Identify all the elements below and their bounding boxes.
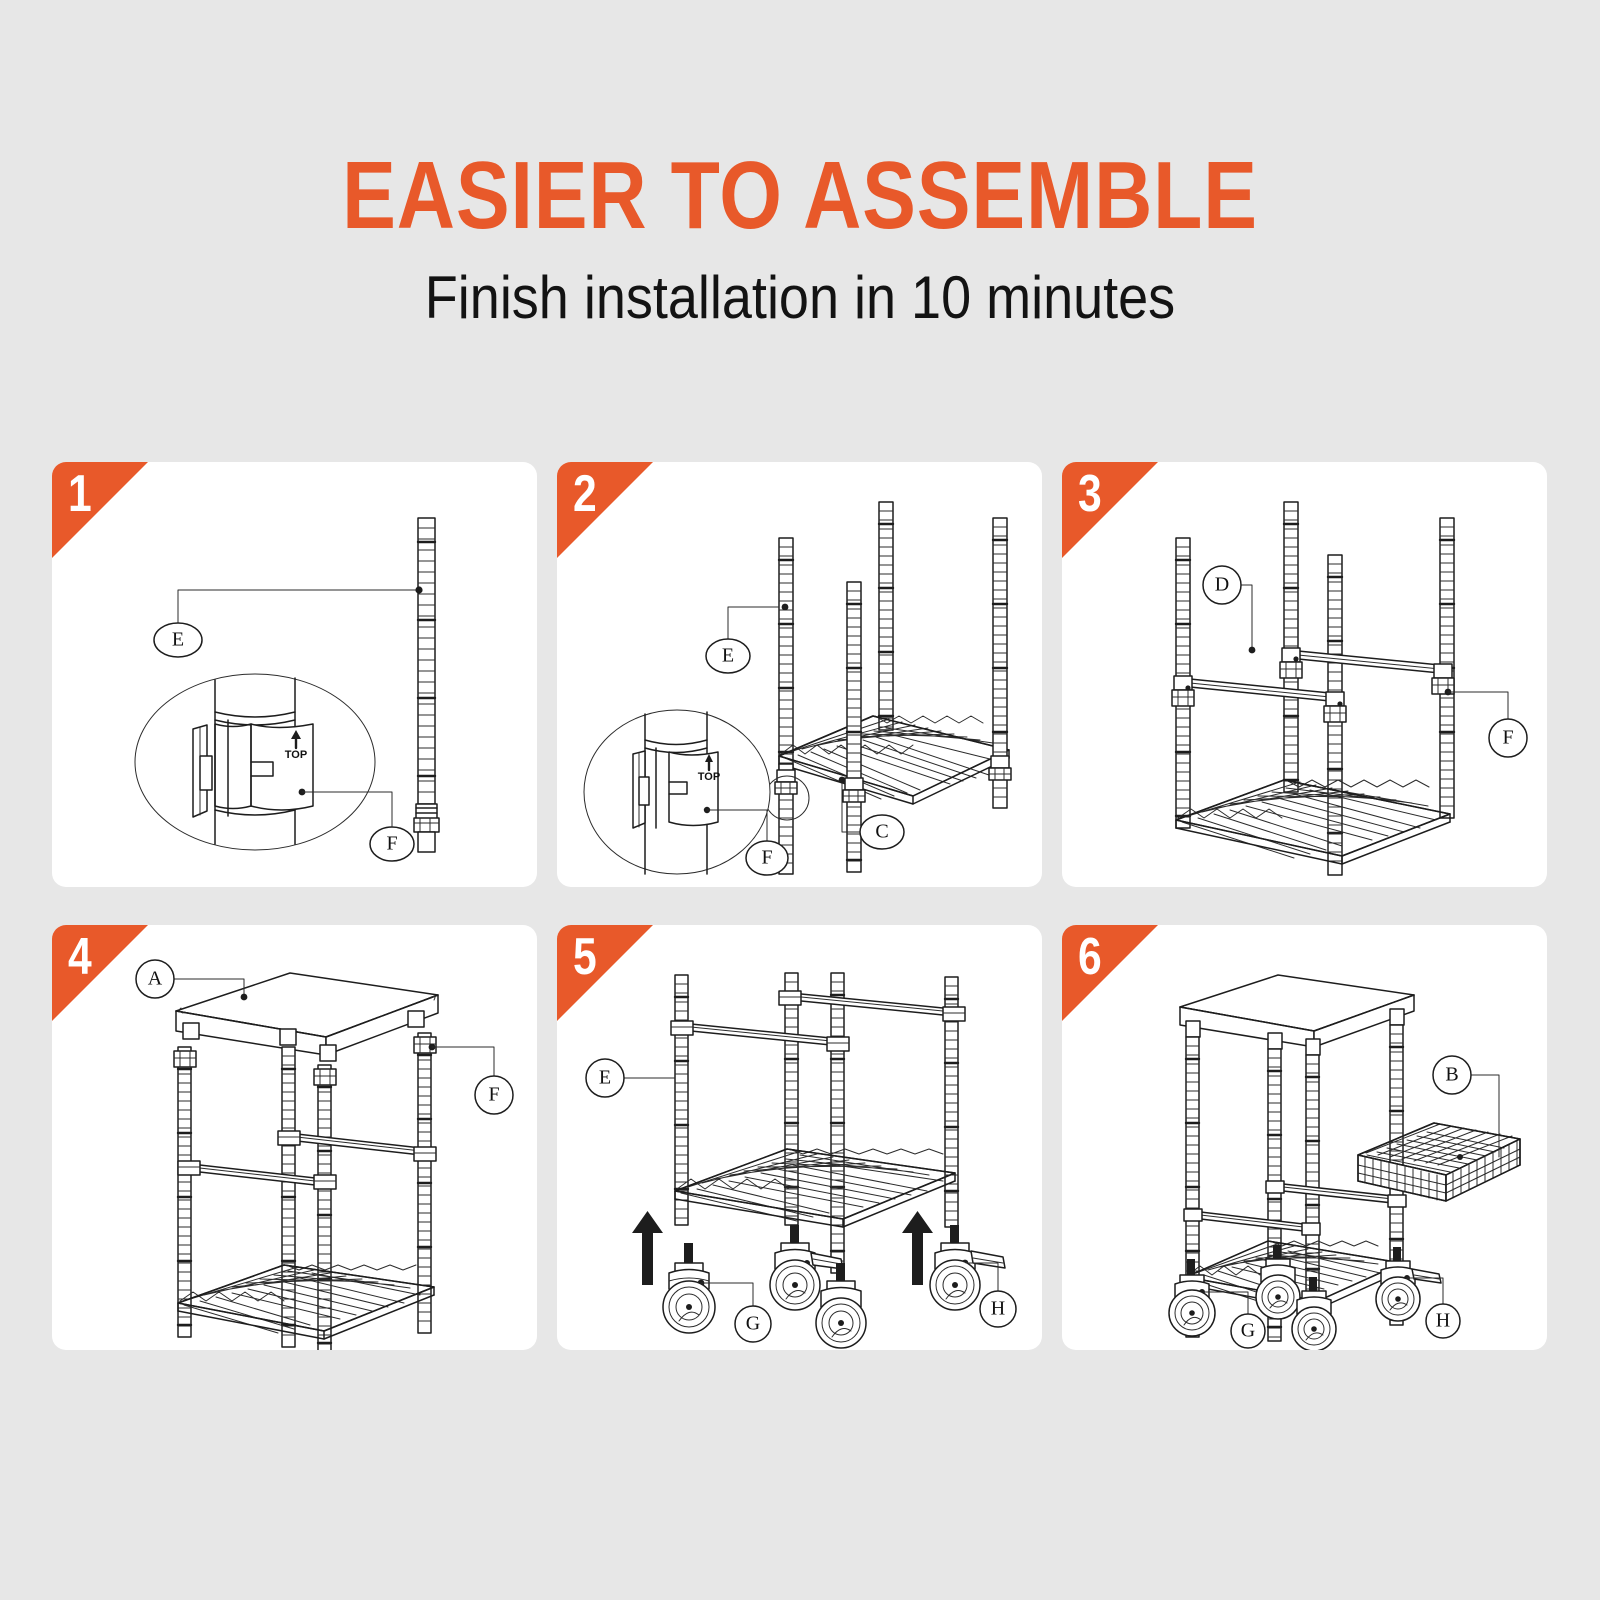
assembly-infographic: EASIER TO ASSEMBLE Finish installation i… xyxy=(0,0,1600,1600)
step-number-5: 5 xyxy=(573,931,597,983)
caster-part-g xyxy=(663,1243,715,1333)
callout-label-f: F xyxy=(488,1084,499,1106)
step-badge-5 xyxy=(557,925,653,1021)
insert-arrow-right xyxy=(902,1211,933,1285)
step-number-1: 1 xyxy=(68,468,92,520)
collar-bar-c xyxy=(1184,1209,1202,1221)
wire-shelf xyxy=(178,1265,434,1339)
collar-back-left xyxy=(1280,648,1302,678)
step-panel-6: 6 xyxy=(1062,925,1547,1350)
callout-label-a: A xyxy=(148,968,163,990)
step-panel-5: 5 xyxy=(557,925,1042,1350)
step-badge-4 xyxy=(52,925,148,1021)
collar-bl xyxy=(779,991,801,1005)
step-badge-3 xyxy=(1062,462,1158,558)
callout-label-f: F xyxy=(1502,727,1513,749)
collar-left-top xyxy=(174,1051,196,1067)
page-subtitle: Finish installation in 10 minutes xyxy=(80,244,1520,328)
callout-d: D xyxy=(1203,566,1255,653)
cross-bar-front xyxy=(1192,1211,1312,1232)
collar-mid-right xyxy=(414,1147,436,1161)
callout-label-g: G xyxy=(746,1313,760,1335)
callout-e: E xyxy=(154,586,423,657)
callout-label-g: G xyxy=(1241,1320,1255,1342)
page-title: EASIER TO ASSEMBLE xyxy=(128,0,1472,244)
post-center-back xyxy=(1284,502,1298,792)
post-center-front xyxy=(831,973,844,1273)
callout-label-f: F xyxy=(386,833,397,855)
step-panel-4: 4 xyxy=(52,925,537,1350)
collar-br xyxy=(943,1007,965,1021)
collar-mid-left xyxy=(178,1161,200,1175)
collar-front-left xyxy=(1172,676,1194,706)
callout-label-d: D xyxy=(1215,574,1229,596)
post-right xyxy=(989,518,1011,808)
post-part-e xyxy=(414,518,439,852)
callout-e: E xyxy=(586,1059,675,1097)
step-panel-1: 1 xyxy=(52,462,537,887)
collar-bar-a xyxy=(1266,1181,1284,1193)
callout-label-f: F xyxy=(761,847,772,869)
top-marker-label: TOP xyxy=(285,749,307,761)
callout-label-b: B xyxy=(1445,1064,1458,1086)
collar-fl xyxy=(671,1021,693,1035)
callout-label-h: H xyxy=(991,1298,1005,1320)
collar-bar-b xyxy=(1302,1223,1320,1235)
detail-magnifier: TOP xyxy=(584,710,770,874)
insert-arrow-left xyxy=(632,1211,663,1285)
callout-e: E xyxy=(706,604,788,673)
cross-bar-back xyxy=(1288,650,1450,674)
step-badge-1 xyxy=(52,462,148,558)
collar-right xyxy=(1432,664,1454,695)
cross-bar-front xyxy=(681,1023,841,1046)
step-number-2: 2 xyxy=(573,468,597,520)
collar-right-top xyxy=(414,1037,436,1053)
header: EASIER TO ASSEMBLE Finish installation i… xyxy=(0,0,1600,328)
callout-label-e: E xyxy=(599,1067,611,1089)
callout-label-e: E xyxy=(172,629,184,651)
step-badge-2 xyxy=(557,462,653,558)
collar-center-front-top xyxy=(314,1069,336,1085)
cross-bar-back xyxy=(791,993,953,1016)
step-panel-3: 3 xyxy=(1062,462,1547,887)
step-number-4: 4 xyxy=(68,931,92,983)
callout-label-c: C xyxy=(875,821,888,843)
step-badge-6 xyxy=(1062,925,1158,1021)
callout-f: F xyxy=(1448,692,1527,757)
wire-shelf-part-c xyxy=(779,716,1009,804)
steps-grid: 1 xyxy=(52,462,1548,1305)
wire-shelf xyxy=(675,1149,955,1227)
collar-mid-cfront xyxy=(314,1175,336,1189)
collar-front-right xyxy=(1324,692,1346,722)
callout-label-e: E xyxy=(722,645,734,667)
top-marker-label: TOP xyxy=(698,771,720,783)
collar-bar-d xyxy=(1388,1195,1406,1207)
step-panel-2: 2 xyxy=(557,462,1042,887)
collar-mid-cback xyxy=(278,1131,300,1145)
callout-label-h: H xyxy=(1436,1310,1450,1332)
wire-basket-part-b xyxy=(1358,1123,1520,1201)
step-number-3: 3 xyxy=(1078,468,1102,520)
cross-bar-front xyxy=(1180,678,1340,702)
collar-fr xyxy=(827,1037,849,1051)
cross-bar-front xyxy=(182,1163,324,1186)
post-left xyxy=(178,1047,191,1337)
table-top xyxy=(1180,975,1414,1055)
caster-center-front xyxy=(816,1263,866,1348)
table-top-part-a xyxy=(176,973,438,1061)
step-number-6: 6 xyxy=(1078,931,1102,983)
wire-shelf xyxy=(1176,780,1450,864)
cross-bar-back xyxy=(288,1133,430,1156)
callout-f: F xyxy=(432,1047,513,1114)
detail-magnifier: TOP xyxy=(135,674,375,850)
